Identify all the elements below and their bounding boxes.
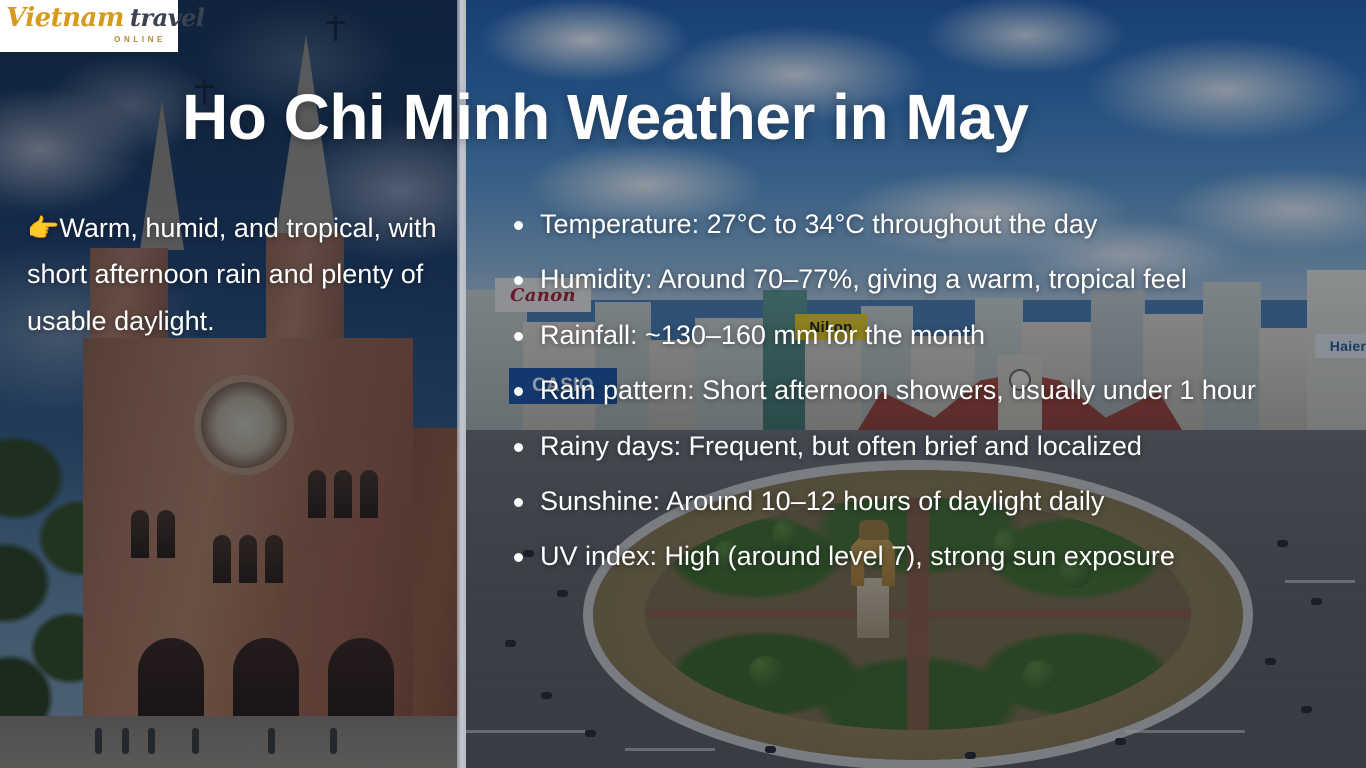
- bullet-text: UV index: High (around level 7), strong …: [540, 541, 1175, 571]
- logo-word-vietnam: Vietnam: [6, 3, 124, 33]
- list-item: Rainy days: Frequent, but often brief an…: [505, 427, 1350, 466]
- list-item: Sunshine: Around 10–12 hours of daylight…: [505, 482, 1350, 521]
- list-item: Humidity: Around 70–77%, giving a warm, …: [505, 260, 1350, 299]
- list-item: UV index: High (around level 7), strong …: [505, 537, 1350, 576]
- weather-facts-list: Temperature: 27°C to 34°C throughout the…: [505, 205, 1350, 593]
- page-title: Ho Chi Minh Weather in May: [182, 84, 1028, 151]
- left-summary-text: 👉Warm, humid, and tropical, with short a…: [27, 205, 439, 344]
- brand-logo[interactable]: Vietnam travel ONLINE: [0, 0, 178, 52]
- logo-wordmark: Vietnam travel: [6, 3, 170, 37]
- weather-infographic-poster: Canon CASIO Nikon Haier: [0, 0, 1366, 768]
- list-item: Temperature: 27°C to 34°C throughout the…: [505, 205, 1350, 244]
- list-item: Rainfall: ~130–160 mm for the month: [505, 316, 1350, 355]
- list-item: Rain pattern: Short afternoon showers, u…: [505, 371, 1350, 410]
- bullet-text: Humidity: Around 70–77%, giving a warm, …: [540, 264, 1187, 294]
- logo-tagline: ONLINE: [6, 35, 170, 44]
- bullet-text: Rainfall: ~130–160 mm for the month: [540, 320, 985, 350]
- logo-word-travel: travel: [130, 3, 205, 32]
- left-summary-body: Warm, humid, and tropical, with short af…: [27, 213, 437, 336]
- pointing-finger-icon: 👉: [27, 213, 59, 243]
- bullet-text: Temperature: 27°C to 34°C throughout the…: [540, 209, 1097, 239]
- bullet-text: Rain pattern: Short afternoon showers, u…: [540, 375, 1256, 405]
- bullet-text: Sunshine: Around 10–12 hours of daylight…: [540, 486, 1104, 516]
- bullet-text: Rainy days: Frequent, but often brief an…: [540, 431, 1142, 461]
